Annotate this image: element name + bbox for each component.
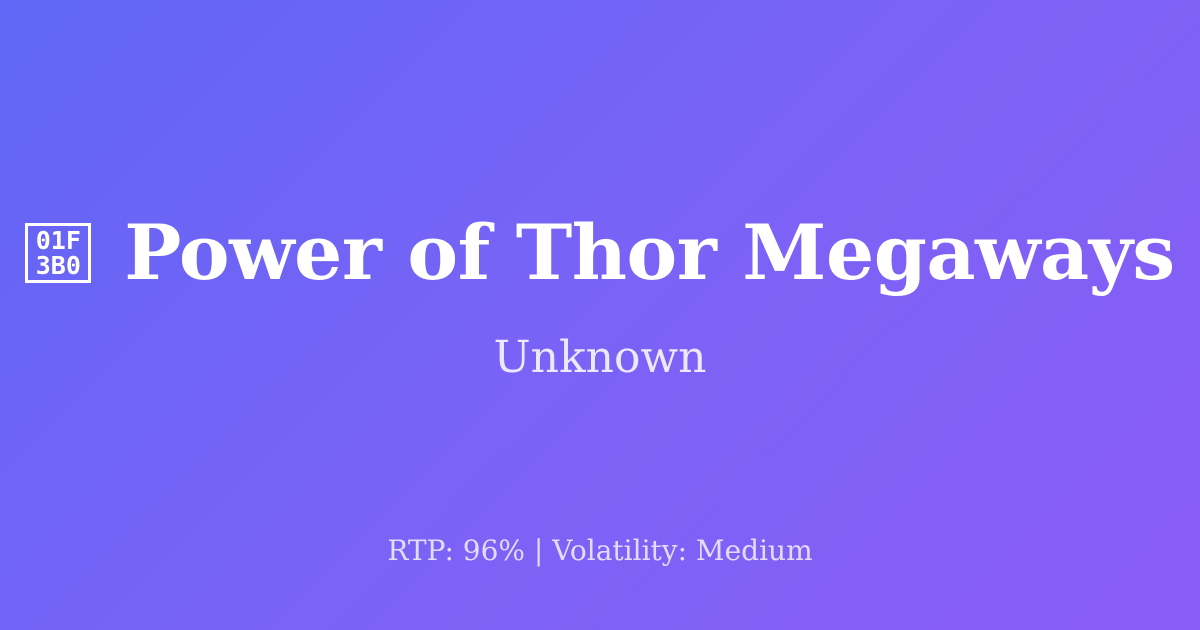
og-card: 01F 3B0 Power of Thor Megaways Unknown R… [0,0,1200,630]
game-stats-line: RTP: 96% | Volatility: Medium [0,534,1200,568]
hero-group: 01F 3B0 Power of Thor Megaways Unknown [0,214,1200,382]
tofu-codepoint-top: 01F [36,228,81,253]
page-title: Power of Thor Megaways [124,214,1174,292]
title-row: 01F 3B0 Power of Thor Megaways [0,214,1200,292]
tofu-codepoint-bottom: 3B0 [36,253,81,278]
page-subtitle: Unknown [494,334,707,382]
slot-machine-icon: 01F 3B0 [25,223,91,283]
